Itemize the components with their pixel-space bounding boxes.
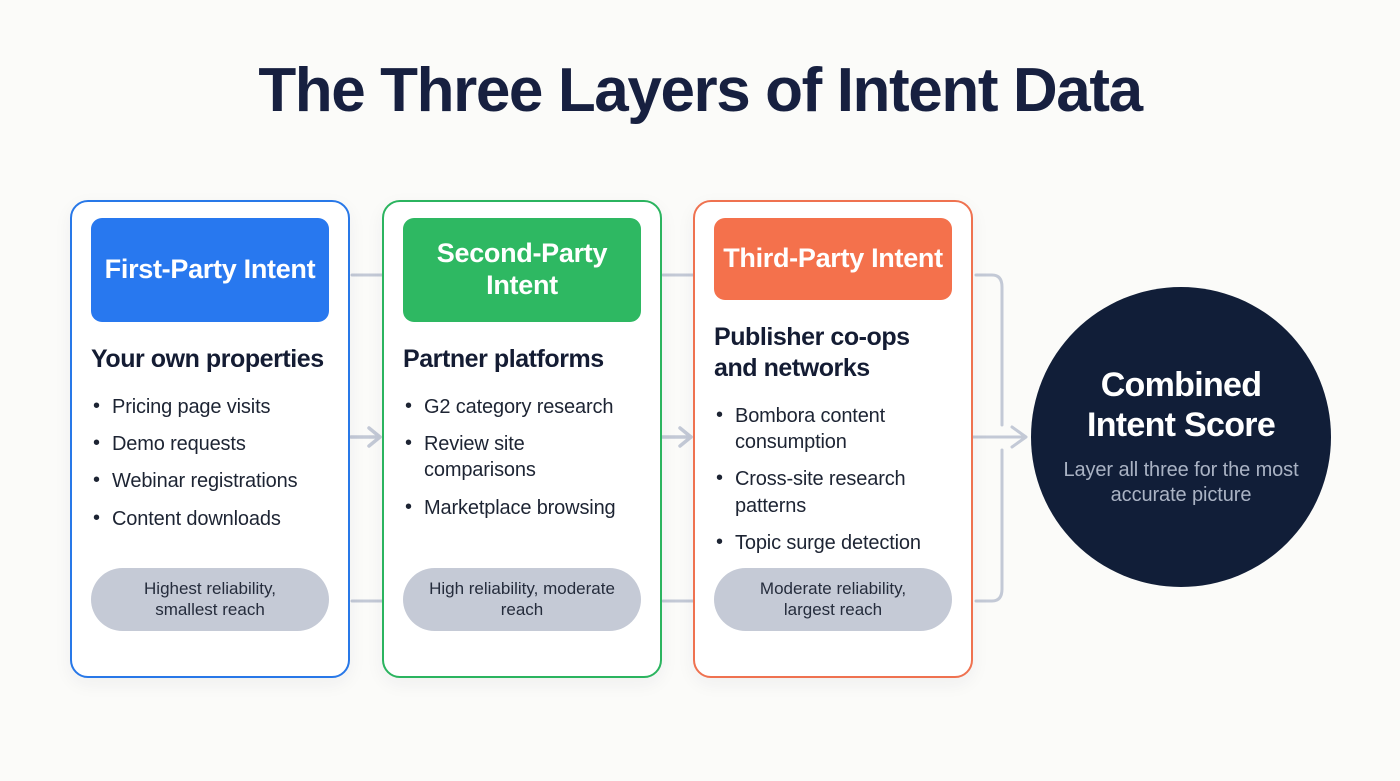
card-first-party-header: First-Party Intent xyxy=(91,218,329,322)
combined-score-title: Combined Intent Score xyxy=(1057,366,1305,446)
card-first-party-pill-wrap: Highest reliability, smallest reach xyxy=(91,568,329,632)
list-item: Content downloads xyxy=(91,506,329,532)
card-first-party[interactable]: First-Party Intent Your own properties P… xyxy=(70,200,350,678)
list-item: Topic surge detection xyxy=(714,530,952,556)
list-item: Demo requests xyxy=(91,431,329,457)
combined-score-subtitle: Layer all three for the most accurate pi… xyxy=(1057,458,1305,508)
card-third-party[interactable]: Third-Party Intent Publisher co-ops and … xyxy=(693,200,973,678)
card-third-party-body: Publisher co-ops and networks Bombora co… xyxy=(714,322,952,676)
list-item: Review site comparisons xyxy=(403,431,641,484)
list-item: Webinar registrations xyxy=(91,468,329,494)
card-second-party-header: Second-Party Intent xyxy=(403,218,641,322)
list-item: Pricing page visits xyxy=(91,394,329,420)
list-item: G2 category research xyxy=(403,394,641,420)
list-item: Bombora content consumption xyxy=(714,403,952,456)
card-first-party-body: Your own properties Pricing page visits … xyxy=(91,344,329,676)
card-second-party-body: Partner platforms G2 category research R… xyxy=(403,344,641,676)
card-second-party-pill-wrap: High reliability, moderate reach xyxy=(403,568,641,632)
diagram-canvas: The Three Layers of Intent Data xyxy=(0,0,1400,781)
combined-intent-score-circle[interactable]: Combined Intent Score Layer all three fo… xyxy=(1031,287,1331,587)
card-second-party[interactable]: Second-Party Intent Partner platforms G2… xyxy=(382,200,662,678)
card-third-party-pill-wrap: Moderate reliability, largest reach xyxy=(714,568,952,632)
status-badge: Moderate reliability, largest reach xyxy=(714,568,952,632)
page-title: The Three Layers of Intent Data xyxy=(0,58,1400,125)
arrow-right-icon-to-circle xyxy=(1012,427,1026,447)
bracket-top xyxy=(976,275,1002,425)
card-first-party-subtitle: Your own properties xyxy=(91,344,329,376)
card-third-party-subtitle: Publisher co-ops and networks xyxy=(714,322,952,385)
list-item: Cross-site research patterns xyxy=(714,466,952,519)
card-second-party-bullets: G2 category research Review site compari… xyxy=(403,394,641,533)
arrow-right-icon-1-2 xyxy=(369,428,380,446)
card-first-party-bullets: Pricing page visits Demo requests Webina… xyxy=(91,394,329,544)
status-badge: High reliability, moderate reach xyxy=(403,568,641,632)
card-third-party-bullets: Bombora content consumption Cross-site r… xyxy=(714,403,952,568)
arrow-right-icon-2-3 xyxy=(680,428,691,446)
card-third-party-header: Third-Party Intent xyxy=(714,218,952,300)
status-badge: Highest reliability, smallest reach xyxy=(91,568,329,632)
card-second-party-subtitle: Partner platforms xyxy=(403,344,641,376)
list-item: Marketplace browsing xyxy=(403,495,641,521)
bracket-bottom xyxy=(976,450,1002,601)
